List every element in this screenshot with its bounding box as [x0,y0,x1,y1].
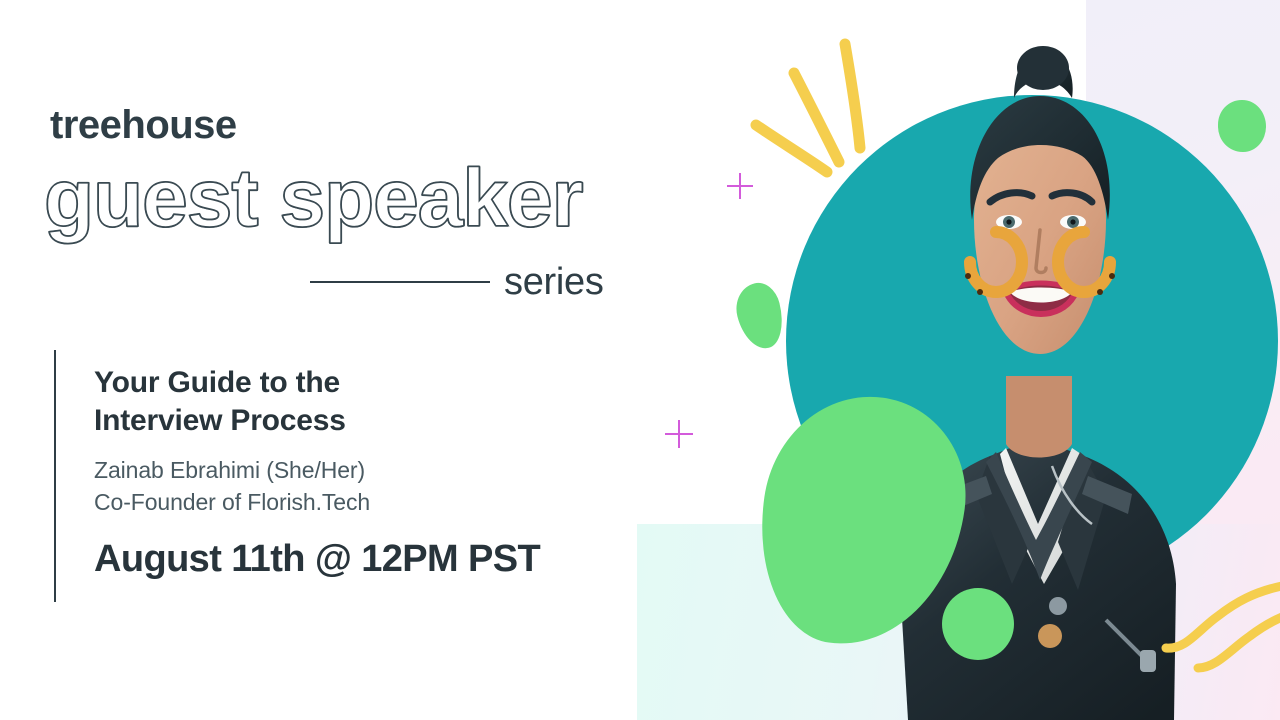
series-row: series [310,258,625,306]
guest-speaker-promo-slide: treehouse guest speaker series Your Guid… [0,0,1280,720]
yellow-sparkle-strokes [745,30,895,210]
green-blob-small [731,279,790,354]
headline-guest-speaker: guest speaker [44,158,583,240]
session-details: Your Guide to the Interview Process Zain… [54,350,540,602]
treehouse-wordmark: treehouse [50,105,237,145]
series-divider-rule [310,281,490,283]
green-circle-accent [942,588,1014,660]
speaker-name: Zainab Ebrahimi (She/Her) [94,455,540,487]
series-label: series [504,263,604,301]
magenta-plus-icon-top [727,173,753,199]
yellow-wave-strokes [1150,570,1280,690]
session-title: Your Guide to the Interview Process [94,364,424,441]
magenta-plus-icon-middle [665,420,693,448]
speaker-role: Co-Founder of Florish.Tech [94,487,540,519]
event-datetime: August 11th @ 12PM PST [94,540,540,578]
